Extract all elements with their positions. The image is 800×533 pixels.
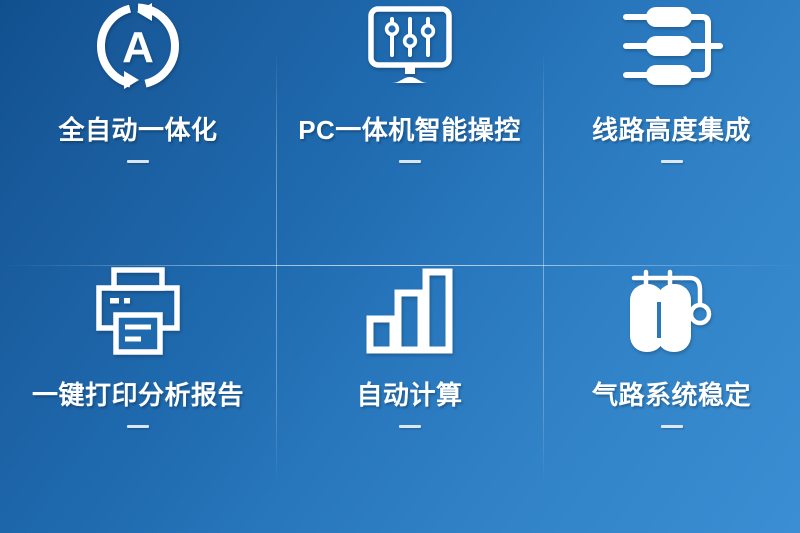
gas-cylinders-gauge-icon <box>616 265 728 357</box>
feature-banner: A 全自动一体化 <box>0 0 800 533</box>
feature-label: 一键打印分析报告 <box>32 375 244 412</box>
feature-item-circuit-integration[interactable]: 线路高度集成 <box>543 0 800 265</box>
feature-label: 全自动一体化 <box>58 110 217 147</box>
feature-underline-dash <box>661 425 683 428</box>
feature-label: 自动计算 <box>356 375 462 412</box>
feature-item-gas-system[interactable]: 气路系统稳定 <box>543 265 800 533</box>
bar-chart-icon <box>354 265 466 357</box>
printer-icon <box>82 265 194 357</box>
feature-item-print-report[interactable]: 一键打印分析报告 <box>0 265 276 533</box>
feature-label: 线路高度集成 <box>592 110 751 147</box>
feature-label: 气路系统稳定 <box>592 375 751 412</box>
auto-circular-arrows-a-icon: A <box>82 0 194 92</box>
feature-underline-dash <box>661 160 683 163</box>
feature-underline-dash <box>399 425 421 428</box>
monitor-sliders-icon <box>354 0 466 92</box>
feature-label: PC一体机智能操控 <box>298 110 521 147</box>
feature-grid: A 全自动一体化 <box>0 0 800 533</box>
parallel-circuit-resistors-icon <box>616 0 728 92</box>
feature-item-pc-control[interactable]: PC一体机智能操控 <box>276 0 543 265</box>
feature-item-auto-calculation[interactable]: 自动计算 <box>276 265 543 533</box>
feature-underline-dash <box>127 425 149 428</box>
svg-text:A: A <box>122 23 154 72</box>
feature-underline-dash <box>127 160 149 163</box>
feature-underline-dash <box>399 160 421 163</box>
feature-item-full-automation[interactable]: A 全自动一体化 <box>0 0 276 265</box>
